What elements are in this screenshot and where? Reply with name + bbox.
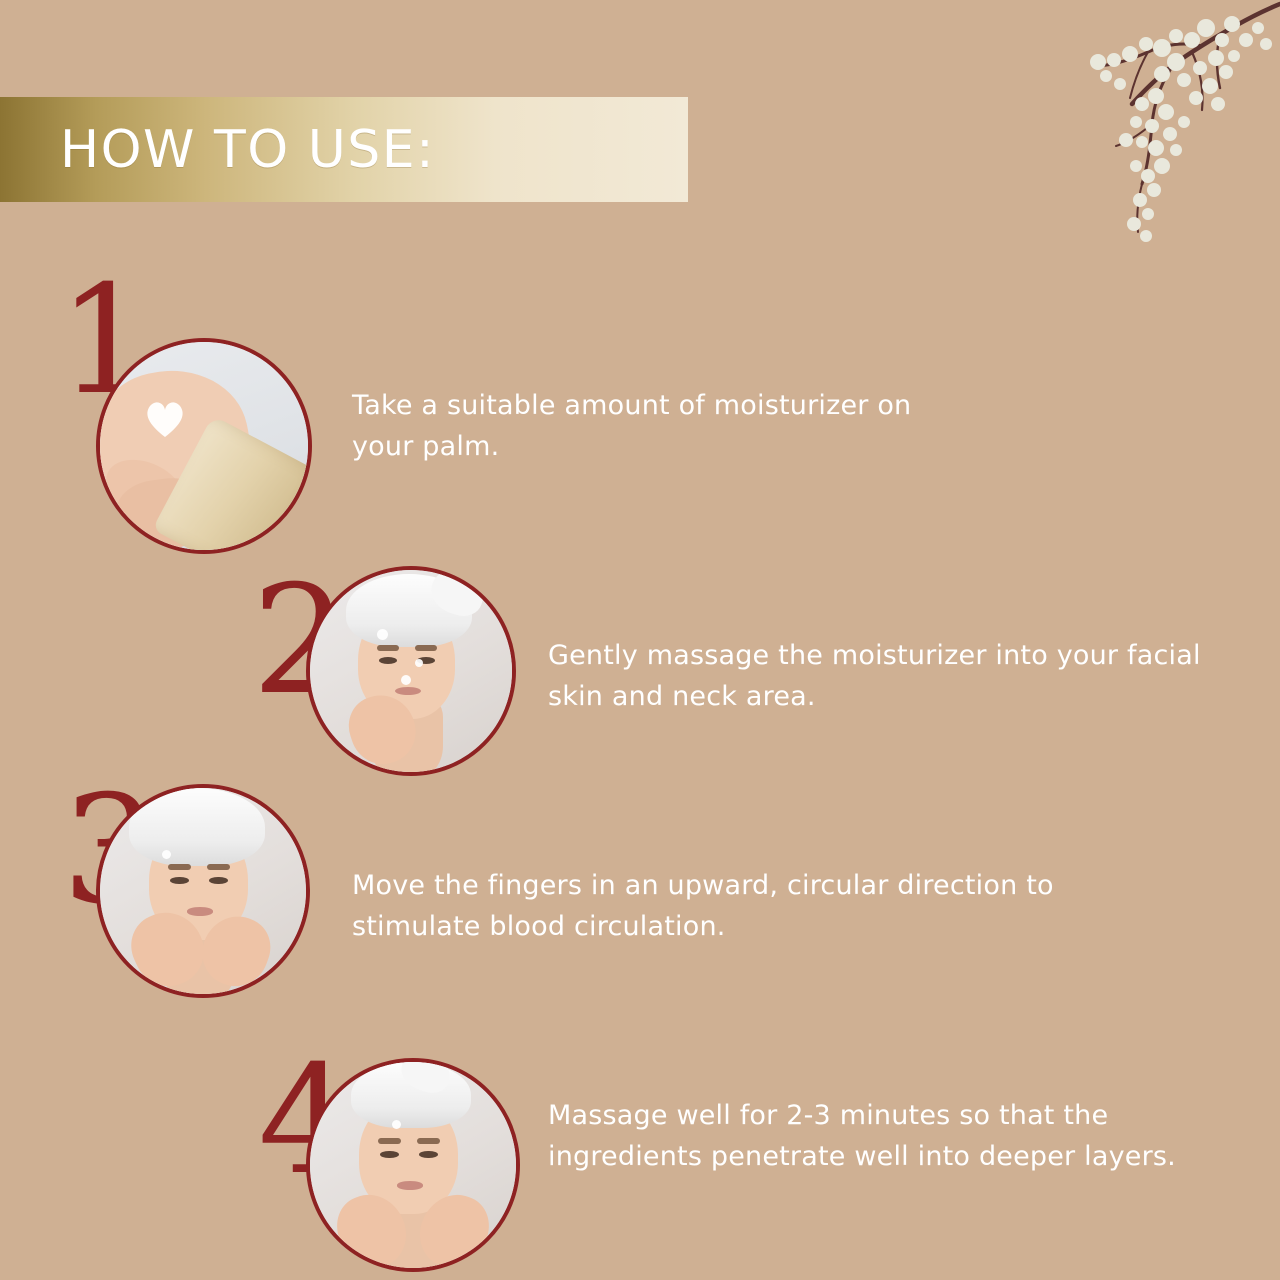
step-3-photo	[96, 784, 310, 998]
step-1-text: Take a suitable amount of moisturizer on…	[352, 386, 972, 467]
page-title: HOW TO USE:	[60, 120, 435, 180]
step-4-photo	[306, 1058, 520, 1272]
step-4-text: Massage well for 2-3 minutes so that the…	[548, 1096, 1248, 1177]
cherry-blossom-branch-icon	[970, 0, 1280, 320]
step-2-photo	[306, 566, 516, 776]
step-1-photo	[96, 338, 312, 554]
header-band: HOW TO USE:	[0, 97, 688, 202]
step-2-text: Gently massage the moisturizer into your…	[548, 636, 1208, 717]
step-3-text: Move the fingers in an upward, circular …	[352, 866, 1162, 947]
